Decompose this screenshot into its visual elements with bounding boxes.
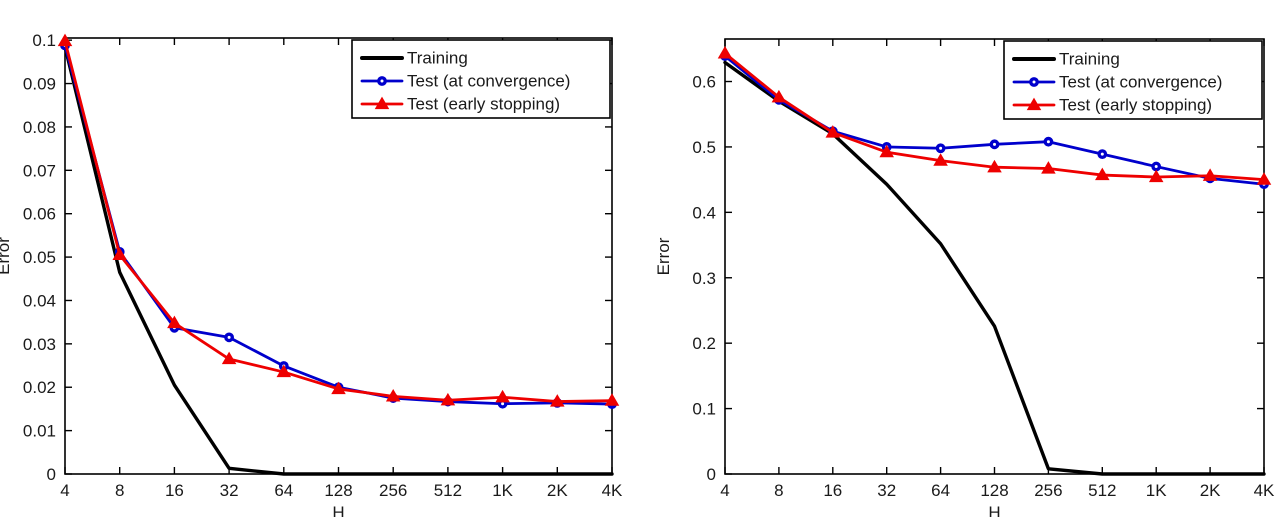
legend-label-2: Test (at convergence): [407, 71, 570, 90]
y-tick-label: 0.1: [32, 31, 56, 50]
legend-label-1: Training: [1059, 49, 1120, 68]
data-point-marker-inner: [993, 143, 996, 146]
legend-label-1: Training: [407, 48, 468, 67]
y-tick-label: 0.6: [692, 73, 716, 92]
x-tick-label: 256: [379, 481, 407, 500]
y-axis-title: Error: [0, 237, 13, 275]
x-tick-label: 2K: [547, 481, 568, 500]
x-tick-label: 256: [1034, 481, 1062, 500]
x-tick-label: 128: [324, 481, 352, 500]
x-tick-label: 16: [165, 481, 184, 500]
y-tick-label: 0.08: [23, 118, 56, 137]
legend-marker-circle-inner: [1033, 81, 1036, 84]
chart-legend: TrainingTest (at convergence)Test (early…: [1004, 41, 1262, 119]
x-tick-label: 2K: [1200, 481, 1221, 500]
data-point-marker-inner: [1101, 153, 1104, 156]
y-tick-label: 0.3: [692, 269, 716, 288]
data-point-marker-inner: [228, 336, 231, 339]
legend-label-3: Test (early stopping): [407, 94, 560, 113]
legend-marker-circle-inner: [381, 80, 384, 83]
y-tick-label: 0.03: [23, 335, 56, 354]
x-tick-label: 1K: [492, 481, 513, 500]
x-tick-label: 64: [274, 481, 293, 500]
y-tick-label: 0.02: [23, 378, 56, 397]
chart-panel-mnist: 00.010.020.030.040.050.060.070.080.090.1…: [0, 0, 641, 517]
chart-panel-cifar10: 00.10.20.30.40.50.6Error4816326412825651…: [641, 0, 1282, 517]
y-tick-label: 0: [707, 465, 716, 484]
chart-svg-cifar10: 00.10.20.30.40.50.6Error4816326412825651…: [641, 0, 1282, 517]
figure-root: 00.010.020.030.040.050.060.070.080.090.1…: [0, 0, 1282, 517]
x-tick-label: 8: [115, 481, 124, 500]
data-point-marker-inner: [1047, 140, 1050, 143]
y-tick-label: 0.04: [23, 291, 56, 310]
x-tick-label: 16: [823, 481, 842, 500]
y-tick-label: 0.09: [23, 75, 56, 94]
y-tick-label: 0.07: [23, 161, 56, 180]
x-tick-label: 32: [877, 481, 896, 500]
y-axis-title: Error: [654, 237, 673, 275]
y-tick-label: 0: [47, 465, 56, 484]
y-tick-label: 0.01: [23, 422, 56, 441]
x-tick-label: 512: [1088, 481, 1116, 500]
x-tick-label: 128: [980, 481, 1008, 500]
y-tick-label: 0.2: [692, 334, 716, 353]
data-point-marker-inner: [1155, 165, 1158, 168]
data-point-marker-inner: [501, 402, 504, 405]
y-tick-label: 0.5: [692, 138, 716, 157]
x-tick-label: 8: [774, 481, 783, 500]
x-axis-title: H: [988, 503, 1000, 517]
data-point-marker-inner: [939, 147, 942, 150]
x-tick-label: 1K: [1146, 481, 1167, 500]
x-tick-label: 32: [220, 481, 239, 500]
x-tick-label: 512: [434, 481, 462, 500]
y-tick-label: 0.4: [692, 203, 716, 222]
x-tick-label: 4: [60, 481, 69, 500]
x-tick-label: 4K: [602, 481, 623, 500]
y-tick-label: 0.05: [23, 248, 56, 267]
chart-legend: TrainingTest (at convergence)Test (early…: [352, 40, 610, 118]
x-tick-label: 4: [720, 481, 729, 500]
x-tick-label: 4K: [1254, 481, 1275, 500]
y-tick-label: 0.1: [692, 400, 716, 419]
y-tick-label: 0.06: [23, 205, 56, 224]
x-axis-title: H: [332, 503, 344, 517]
legend-label-2: Test (at convergence): [1059, 72, 1222, 91]
x-tick-label: 64: [931, 481, 950, 500]
legend-label-3: Test (early stopping): [1059, 95, 1212, 114]
chart-svg-mnist: 00.010.020.030.040.050.060.070.080.090.1…: [0, 0, 641, 517]
